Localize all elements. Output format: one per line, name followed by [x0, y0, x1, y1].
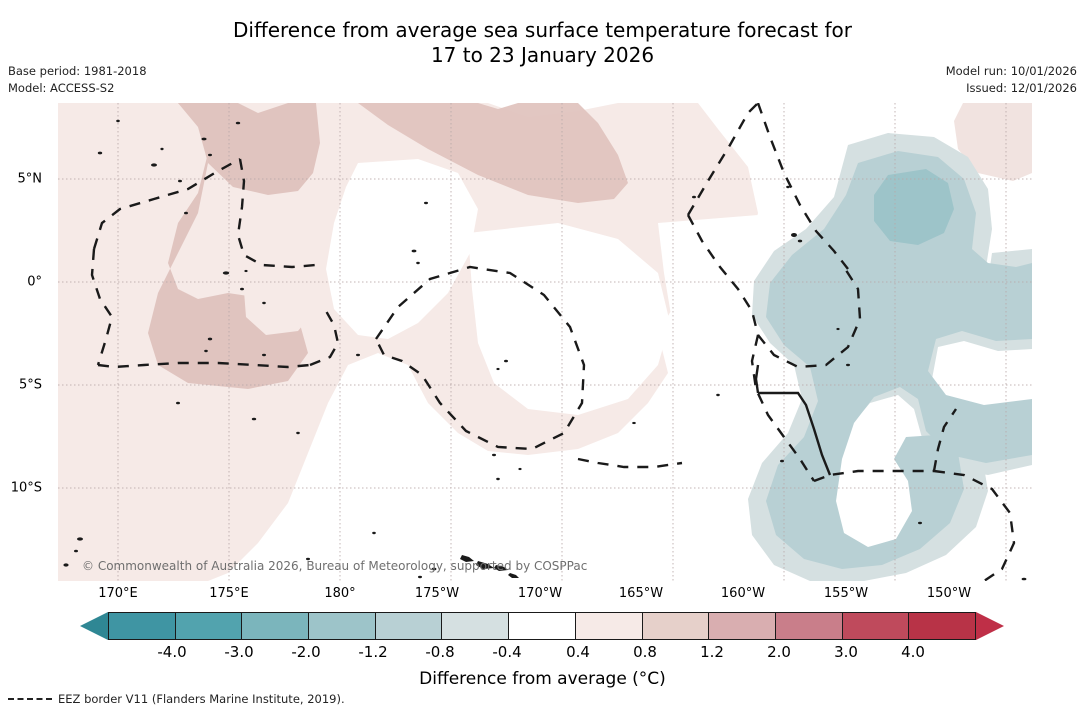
- colorbar-bands: [108, 612, 976, 640]
- eez-border-legend: EEZ border V11 (Flanders Marine Institut…: [8, 692, 345, 706]
- x-tick-180: 180°: [324, 586, 355, 601]
- colorbar-band-7: [576, 613, 643, 639]
- cbar-tick-2.0: 2.0: [767, 643, 791, 661]
- metadata-left: Base period: 1981-2018 Model: ACCESS-S2: [8, 63, 147, 96]
- model-run-text: Model run: 10/01/2026: [946, 63, 1077, 80]
- colorbar-over-arrow: [976, 612, 1004, 640]
- y-tick-10s: 10°S: [0, 481, 49, 496]
- cbar-tick-0.8: 0.8: [633, 643, 657, 661]
- issued-text: Issued: 12/01/2026: [946, 80, 1077, 97]
- cbar-tick--0.4: -0.4: [492, 643, 521, 661]
- colorbar-band-2: [242, 613, 309, 639]
- copyright-text: © Commonwealth of Australia 2026, Bureau…: [82, 559, 587, 573]
- page-title: Difference from average sea surface temp…: [0, 18, 1085, 68]
- colorbar-band-6: [509, 613, 576, 639]
- colorbar-band-12: [909, 613, 975, 639]
- dashed-line-icon: [8, 698, 52, 700]
- x-tick-170e: 170°E: [98, 586, 138, 601]
- sst-anomaly-forecast-map: Difference from average sea surface temp…: [0, 0, 1085, 713]
- cbar-tick--4.0: -4.0: [157, 643, 186, 661]
- colorbar: [0, 612, 1085, 642]
- title-line-1: Difference from average sea surface temp…: [0, 18, 1085, 43]
- colorbar-band-9: [709, 613, 776, 639]
- x-tick-175e: 175°E: [209, 586, 249, 601]
- title-line-2: 17 to 23 January 2026: [0, 43, 1085, 68]
- colorbar-band-3: [309, 613, 376, 639]
- x-tick-150w: 150°W: [927, 586, 971, 601]
- cbar-tick--0.8: -0.8: [425, 643, 454, 661]
- cbar-tick--1.2: -1.2: [358, 643, 387, 661]
- cbar-tick-3.0: 3.0: [834, 643, 858, 661]
- colorbar-band-10: [776, 613, 843, 639]
- map-plot-area: [58, 103, 1032, 581]
- colorbar-under-arrow: [80, 612, 108, 640]
- sst-anomaly-raster: [58, 103, 1032, 581]
- model-text: Model: ACCESS-S2: [8, 80, 147, 97]
- y-tick-5s: 5°S: [0, 378, 49, 393]
- colorbar-band-8: [643, 613, 710, 639]
- cbar-tick--2.0: -2.0: [291, 643, 320, 661]
- colorbar-band-1: [176, 613, 243, 639]
- cbar-tick-1.2: 1.2: [700, 643, 724, 661]
- colorbar-label: Difference from average (°C): [0, 669, 1085, 689]
- colorbar-band-11: [843, 613, 910, 639]
- x-tick-155w: 155°W: [824, 586, 868, 601]
- base-period-text: Base period: 1981-2018: [8, 63, 147, 80]
- colorbar-band-5: [442, 613, 509, 639]
- x-tick-160w: 160°W: [721, 586, 765, 601]
- y-tick-0: 0°: [0, 275, 49, 290]
- cbar-tick--3.0: -3.0: [224, 643, 253, 661]
- metadata-right: Model run: 10/01/2026 Issued: 12/01/2026: [946, 63, 1077, 96]
- colorbar-band-4: [376, 613, 443, 639]
- x-tick-175w: 175°W: [415, 586, 459, 601]
- cbar-tick-4.0: 4.0: [901, 643, 925, 661]
- x-tick-165w: 165°W: [619, 586, 663, 601]
- cbar-tick-0.4: 0.4: [566, 643, 590, 661]
- eez-legend-label: EEZ border V11 (Flanders Marine Institut…: [58, 692, 345, 706]
- colorbar-band-0: [109, 613, 176, 639]
- x-tick-170w: 170°W: [518, 586, 562, 601]
- y-tick-5n: 5°N: [0, 172, 49, 187]
